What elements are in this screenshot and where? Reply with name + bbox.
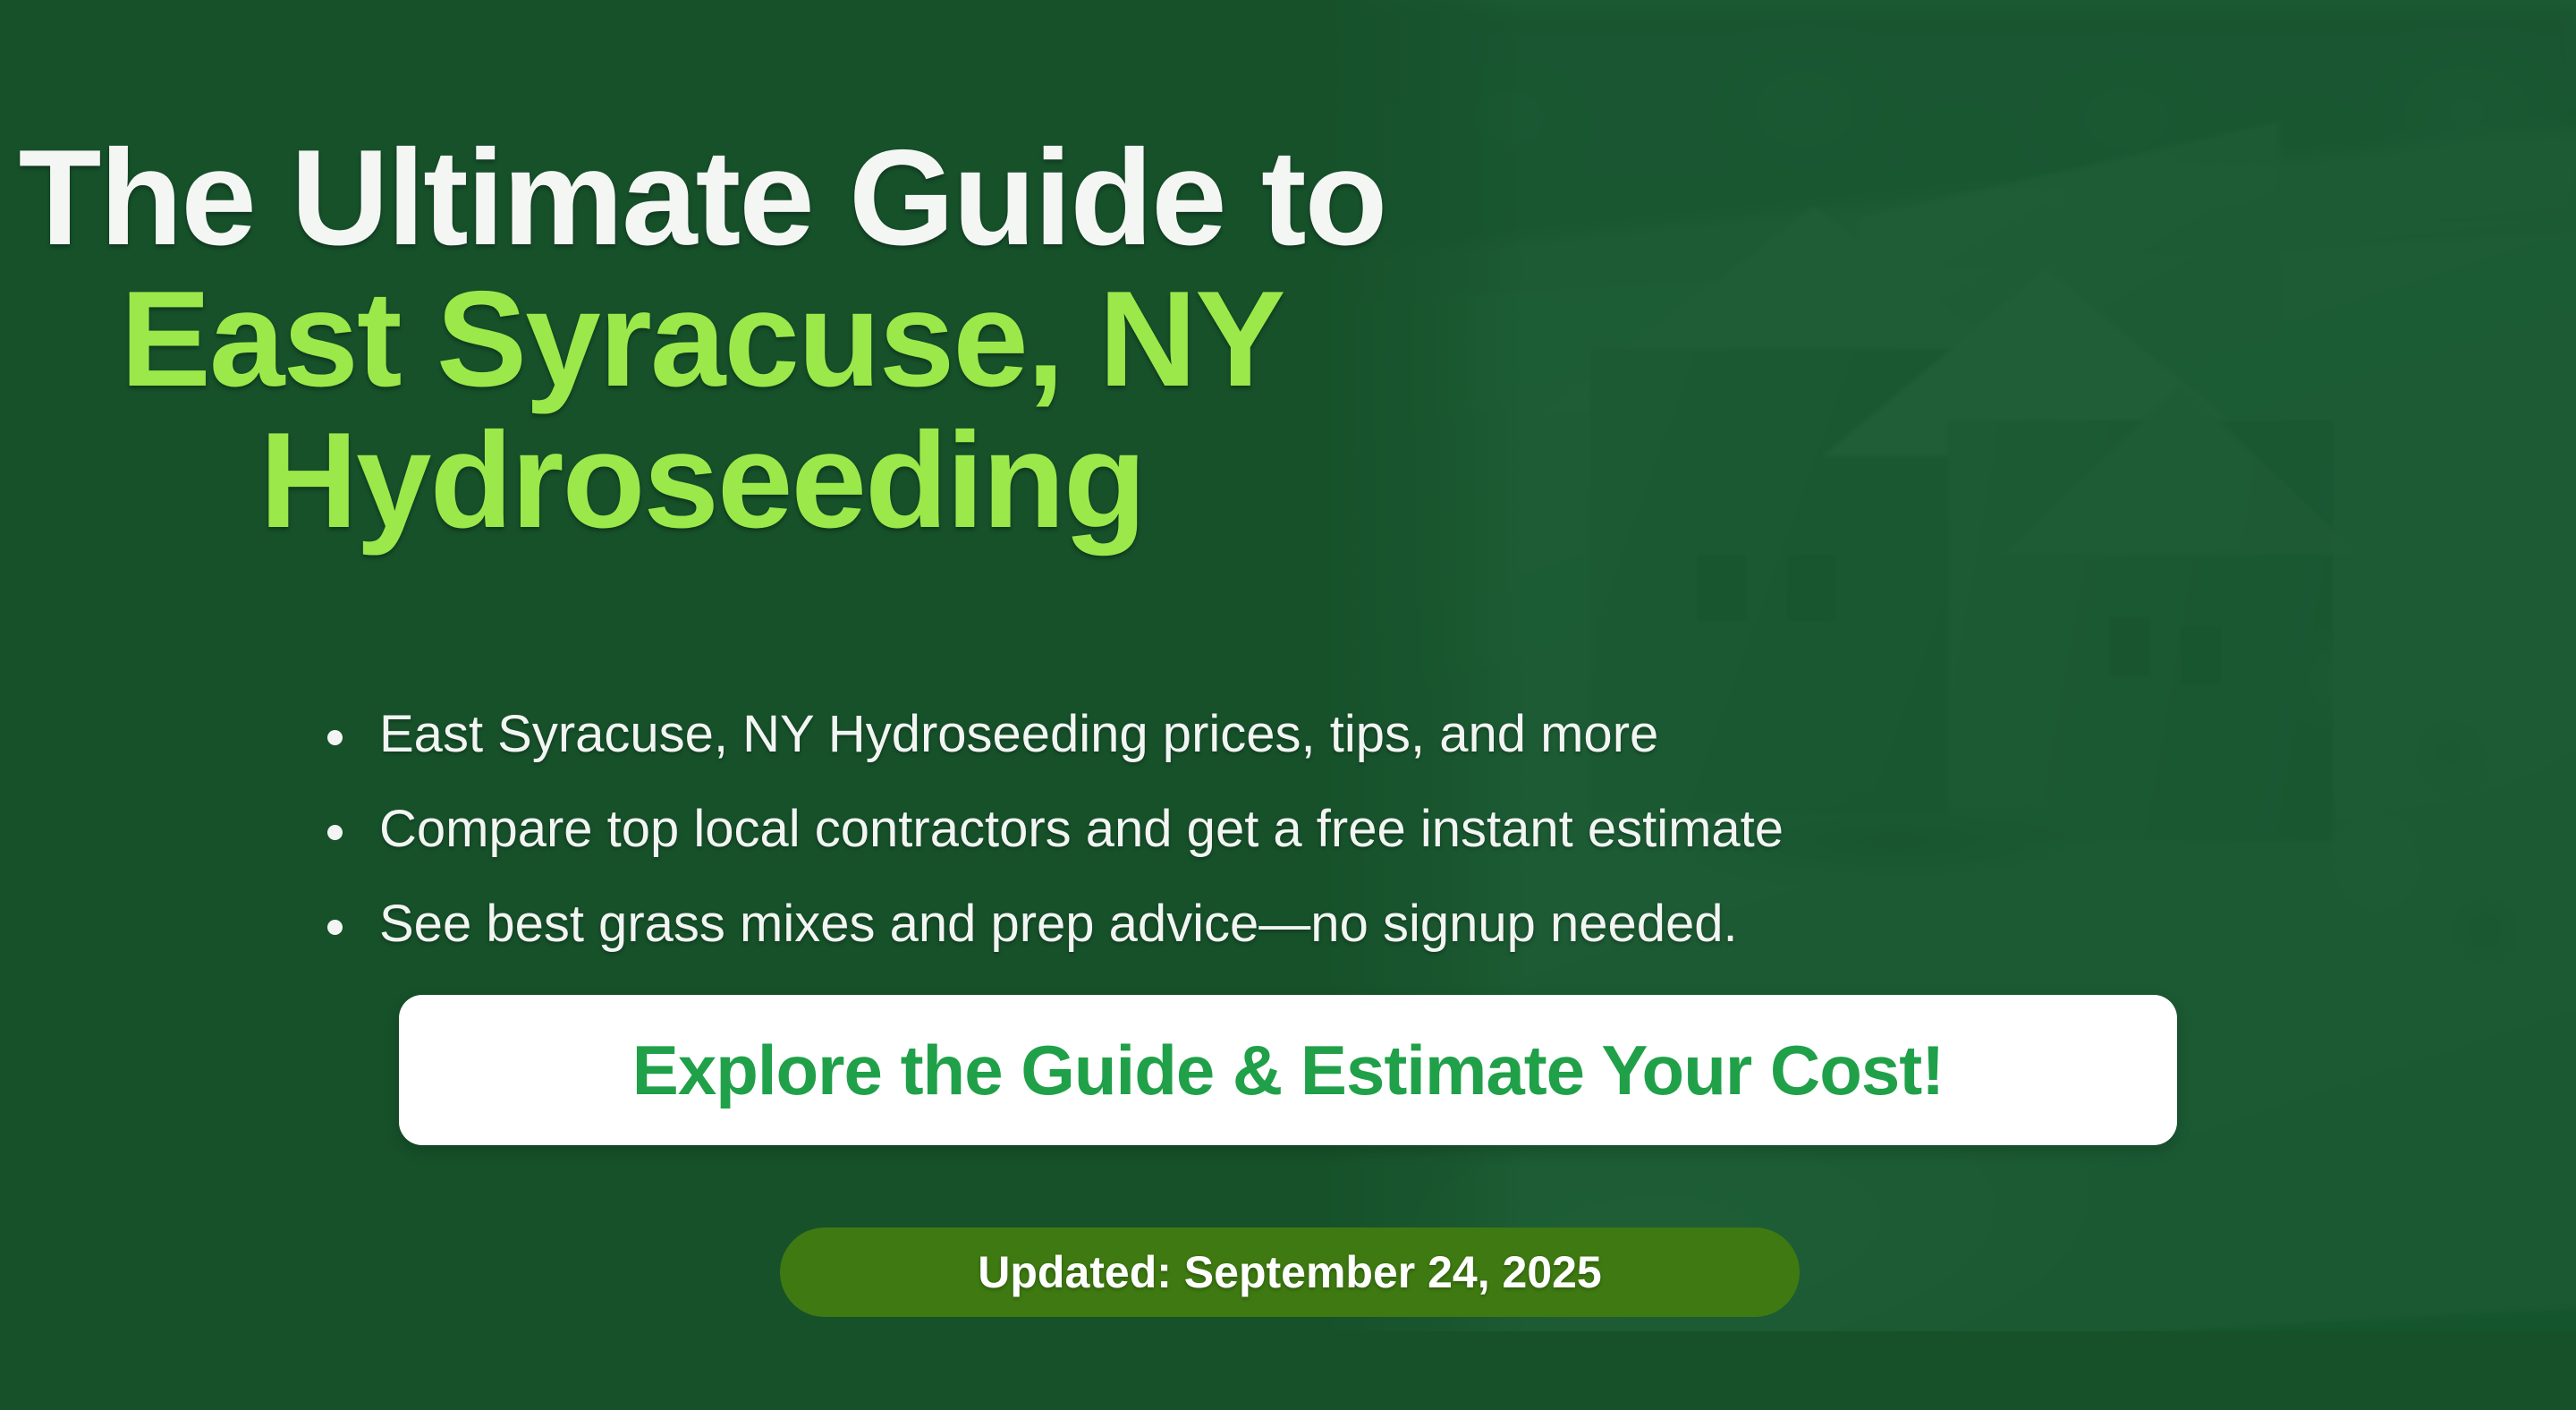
hero-content: The Ultimate Guide to East Syracuse, NY …: [0, 0, 2576, 1410]
cta-button-label: Explore the Guide & Estimate Your Cost!: [632, 1030, 1944, 1111]
headline-line-1: The Ultimate Guide to: [19, 122, 1386, 274]
updated-badge: Updated: September 24, 2025: [780, 1227, 1800, 1317]
hero-banner: The Ultimate Guide to East Syracuse, NY …: [0, 0, 2576, 1410]
list-item: East Syracuse, NY Hydroseeding prices, t…: [315, 687, 1784, 782]
page-title: The Ultimate Guide to East Syracuse, NY …: [0, 127, 1404, 551]
headline-accent: East Syracuse, NY Hydroseeding: [0, 268, 1404, 551]
headline-accent-line-2: Hydroseeding: [0, 410, 1404, 551]
headline-accent-line-1: East Syracuse, NY: [0, 268, 1404, 410]
updated-badge-label: Updated: September 24, 2025: [978, 1246, 1602, 1298]
list-item: Compare top local contractors and get a …: [315, 782, 1784, 877]
benefits-list: East Syracuse, NY Hydroseeding prices, t…: [315, 687, 1784, 972]
explore-guide-button[interactable]: Explore the Guide & Estimate Your Cost!: [399, 995, 2177, 1145]
list-item: See best grass mixes and prep advice—no …: [315, 877, 1784, 972]
